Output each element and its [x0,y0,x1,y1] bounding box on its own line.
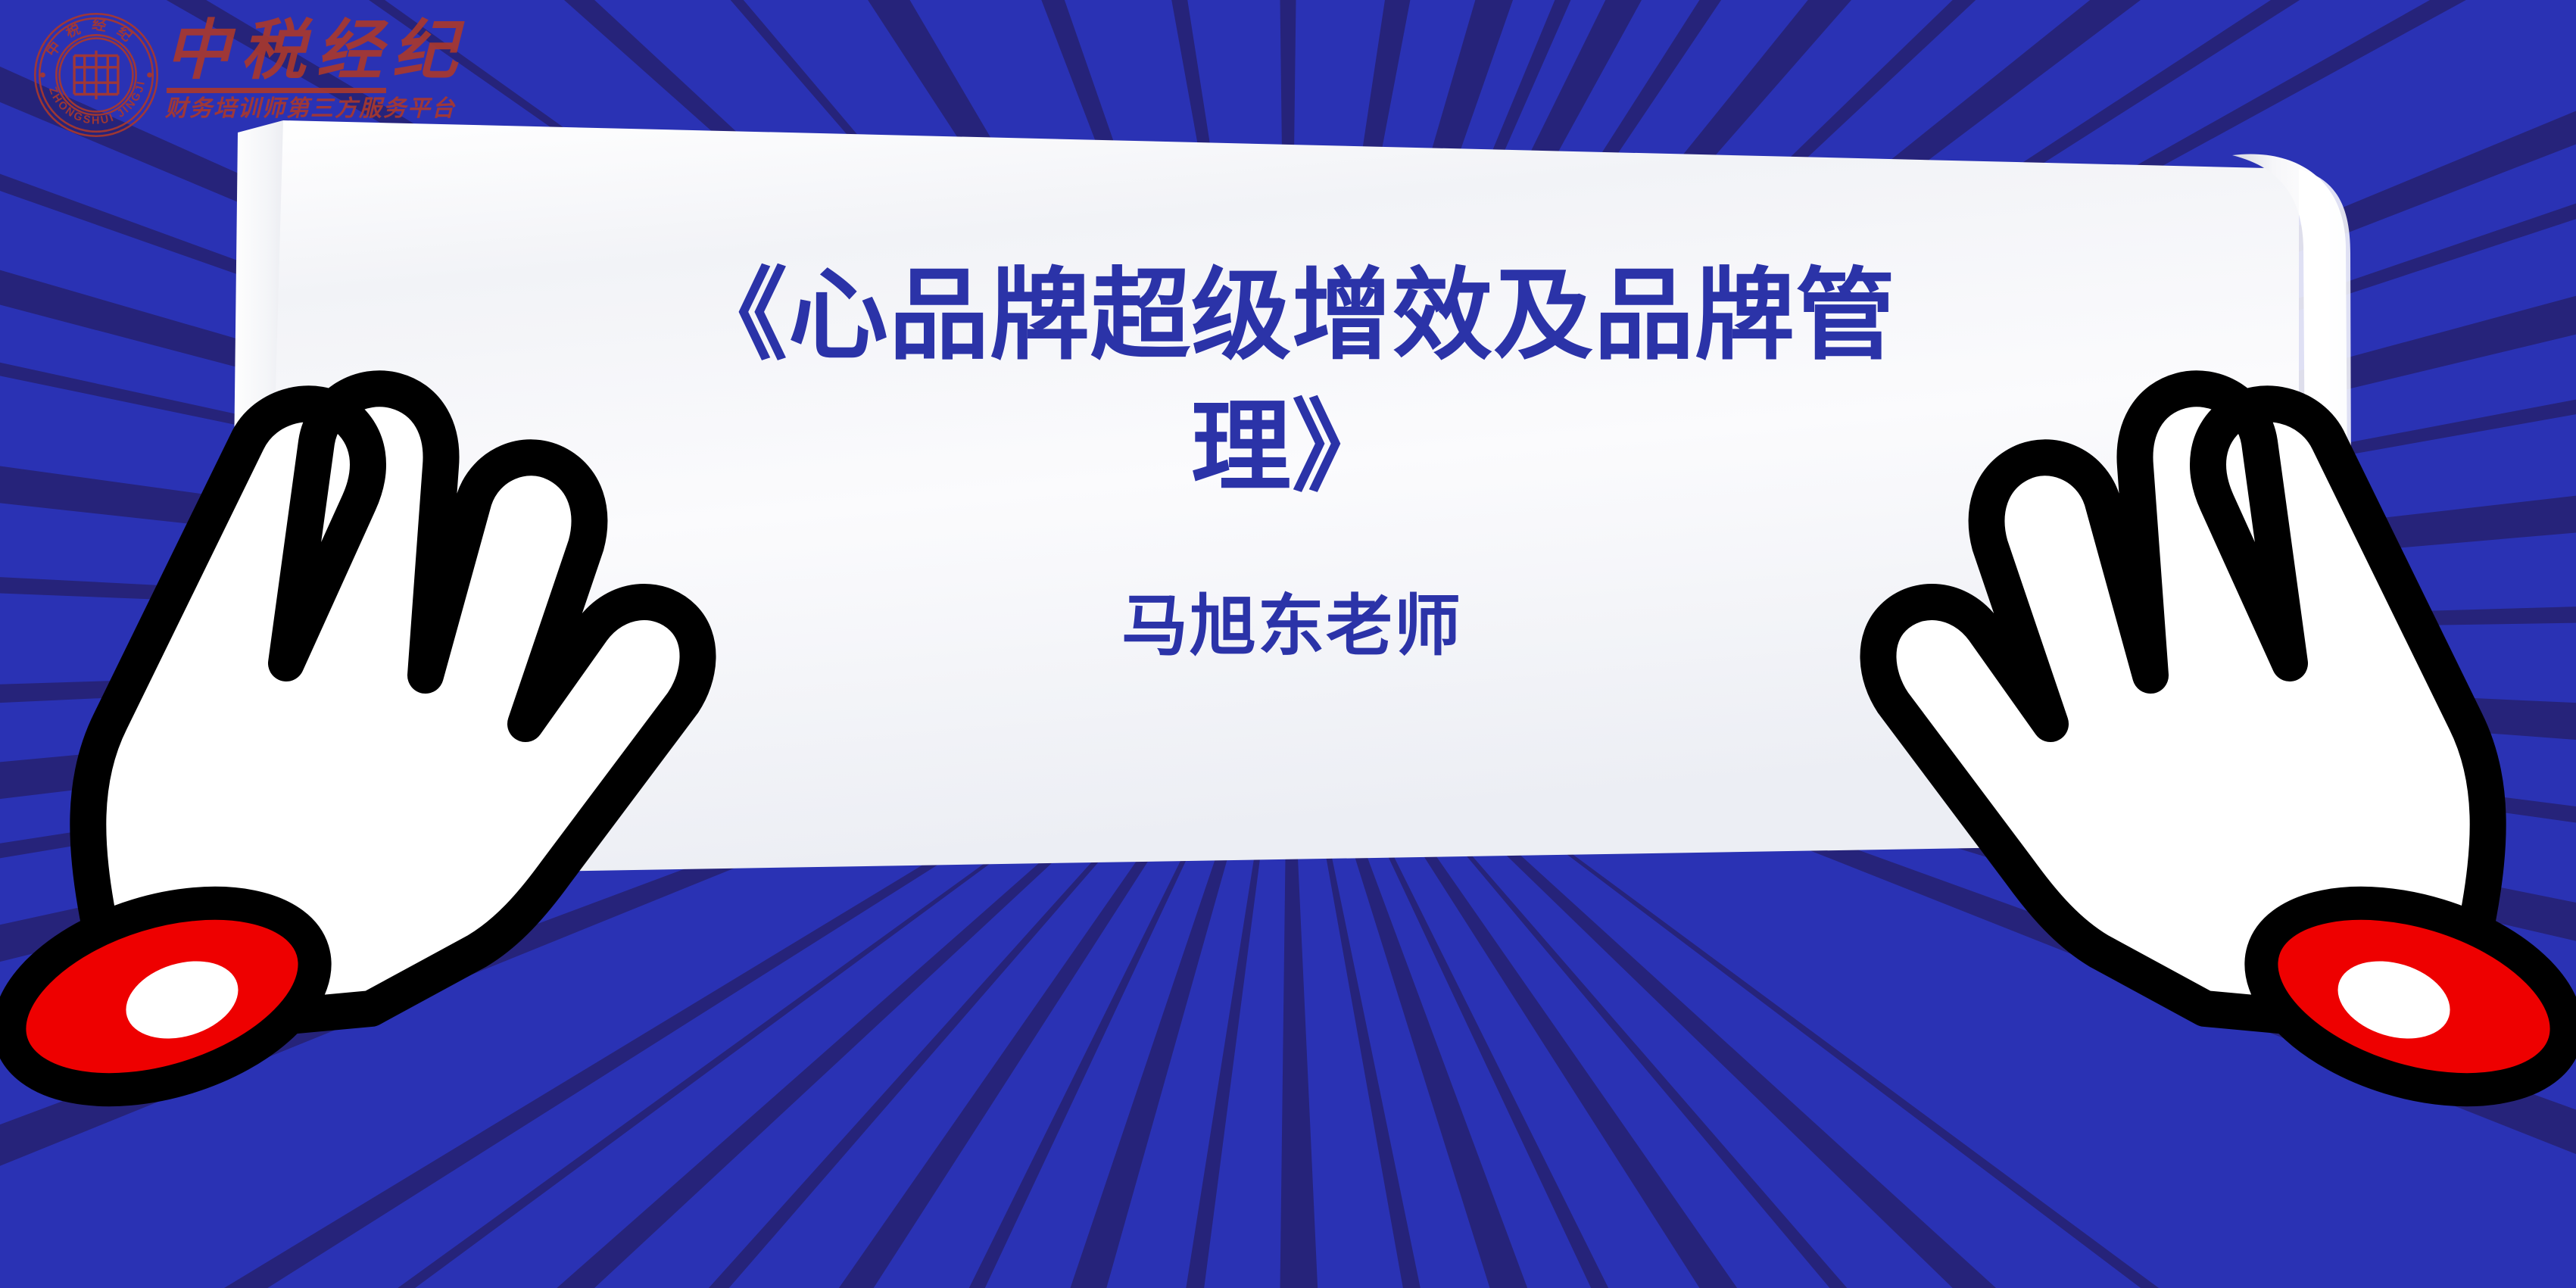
waving-hand-icon-left [0,342,568,1069]
brand-name: 中税经纪 [165,18,468,83]
title-slide: 中税经纪 ZHONGSHUI JINGJI 中税经纪 财务培训师第三方服务平台 [0,0,2576,1288]
brand-lockup: 中税经纪 ZHONGSHUI JINGJI 中税经纪 财务培训师第三方服务平台 [32,11,468,139]
company-seal-icon: 中税经纪 ZHONGSHUI JINGJI [32,11,161,139]
brand-tagline: 财务培训师第三方服务平台 [165,96,468,121]
brand-divider [167,88,386,93]
waving-hand-icon-right [2008,342,2576,1069]
